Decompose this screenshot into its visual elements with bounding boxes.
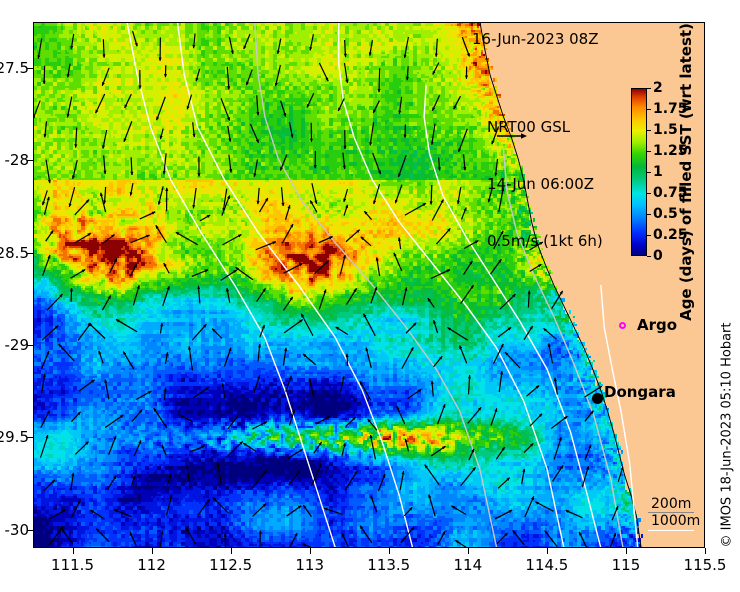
colorbar-tick-label: 1.75 — [653, 101, 688, 117]
date-stamp: 16-Jun-2023 08Z — [472, 30, 599, 48]
colorbar-tick — [647, 151, 651, 152]
colorbar-tick — [647, 88, 651, 89]
vector-legend-timestamp: 14-Jun 06:00Z — [487, 175, 603, 194]
x-axis-tick-label: 115 — [612, 556, 641, 574]
x-axis-tick-label: 112 — [137, 556, 166, 574]
colorbar-tick — [647, 130, 651, 131]
sst-age-map-figure: 16-Jun-2023 08Z NRT00 GSL 14-Jun 06:00Z … — [0, 0, 740, 592]
x-axis-tick — [73, 548, 74, 554]
x-axis-tick-label: 114.5 — [525, 556, 568, 574]
y-axis-tick-label: -28.5 — [0, 244, 29, 262]
colorbar-tick — [647, 235, 651, 236]
bathymetry-1000m-line — [648, 530, 694, 531]
bathymetry-200m-label: 200m — [651, 496, 691, 512]
x-axis-tick-label: 115.5 — [684, 556, 727, 574]
colorbar-tick — [647, 172, 651, 173]
x-axis-tick-label: 113.5 — [367, 556, 410, 574]
colorbar-tick-label: 0 — [653, 248, 663, 264]
x-axis-tick — [389, 548, 390, 554]
x-axis-tick-label: 112.5 — [209, 556, 252, 574]
x-axis-tick-label: 113 — [295, 556, 324, 574]
x-axis-tick — [231, 548, 232, 554]
map-overlays — [33, 22, 705, 548]
dongara-place-label: Dongara — [604, 383, 676, 401]
colorbar-title: Age (days) of filled SST (wrt latest) — [677, 23, 695, 321]
colorbar-gradient — [631, 88, 647, 256]
colorbar-tick — [647, 193, 651, 194]
colorbar — [631, 88, 647, 256]
bathymetry-1000m-label: 1000m — [651, 513, 700, 529]
y-axis-tick-label: -28 — [5, 151, 30, 169]
dongara-marker-icon — [592, 393, 603, 404]
argo-legend-label: Argo — [637, 316, 677, 334]
colorbar-tick-label: 0.75 — [653, 185, 688, 201]
vector-legend-scale: 0.5m/s (1kt 6h) — [487, 232, 603, 251]
colorbar-tick-label: 0.5 — [653, 206, 678, 222]
colorbar-tick-label: 0.25 — [653, 227, 688, 243]
x-axis-tick-label: 111.5 — [51, 556, 94, 574]
colorbar-tick — [647, 256, 651, 257]
colorbar-tick-label: 1.5 — [653, 122, 678, 138]
colorbar-tick-label: 1 — [653, 164, 663, 180]
vector-legend-text: NRT00 GSL 14-Jun 06:00Z 0.5m/s (1kt 6h) — [487, 80, 603, 289]
y-axis-tick-label: -29.5 — [0, 428, 29, 446]
x-axis-tick — [310, 548, 311, 554]
colorbar-tick — [647, 109, 651, 110]
x-axis-tick — [468, 548, 469, 554]
map-plot-area[interactable] — [33, 22, 705, 548]
x-axis-tick — [547, 548, 548, 554]
y-axis-tick-label: -29 — [5, 336, 30, 354]
y-axis-tick-label: -30 — [5, 521, 30, 539]
colorbar-tick — [647, 214, 651, 215]
copyright-credit: © IMOS 18-Jun-2023 05:10 Hobart — [720, 323, 735, 548]
x-axis-tick-label: 114 — [453, 556, 482, 574]
colorbar-tick-label: 2 — [653, 80, 663, 96]
argo-marker-icon — [619, 322, 626, 329]
reference-vector-arrow-icon — [497, 131, 527, 141]
x-axis-tick — [705, 548, 706, 554]
colorbar-tick-label: 1.25 — [653, 143, 688, 159]
x-axis-tick — [626, 548, 627, 554]
y-axis-tick-label: -27.5 — [0, 59, 29, 77]
x-axis-tick — [152, 548, 153, 554]
